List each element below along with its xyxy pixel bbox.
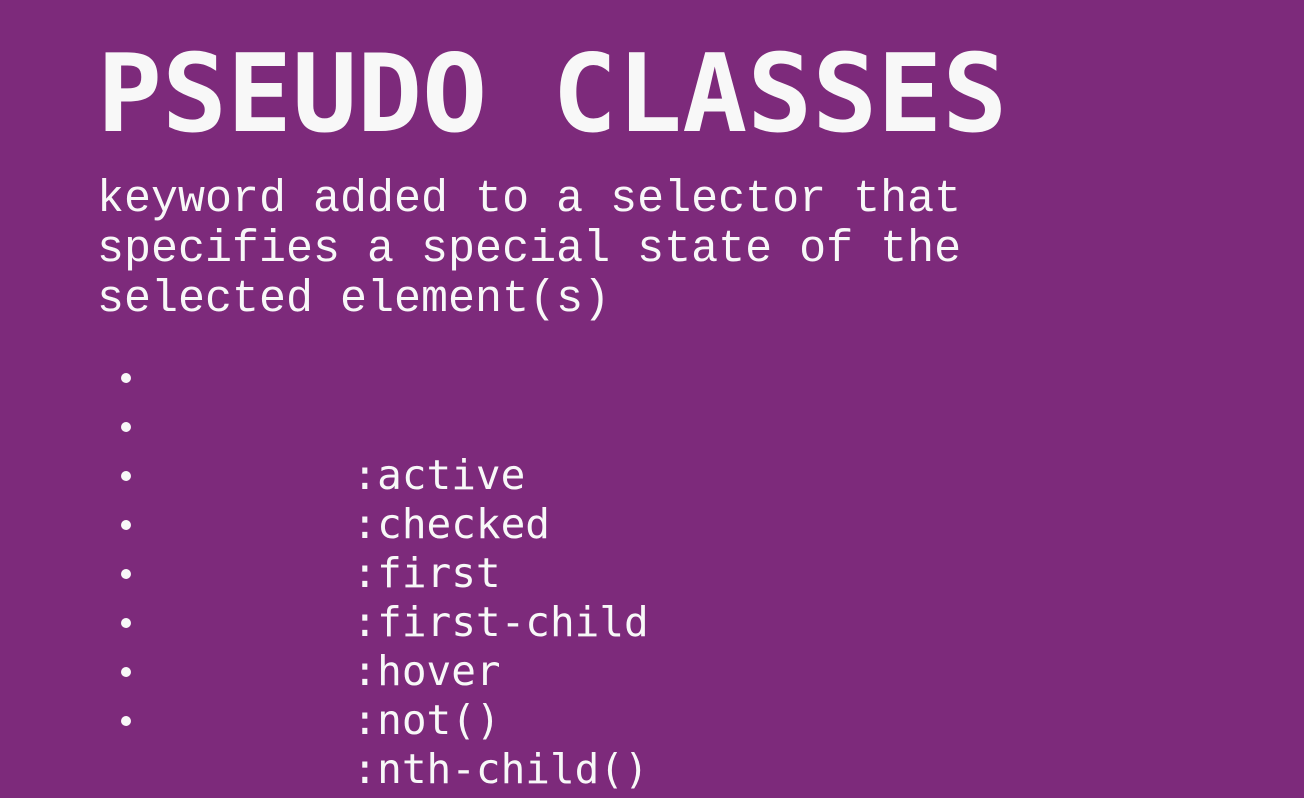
bullet-icon <box>121 520 131 530</box>
subtitle-line-2: specifies a special state of the <box>97 225 1057 275</box>
slide-subtitle: keyword added to a selector that specifi… <box>97 175 1057 325</box>
subtitle-line-1: keyword added to a selector that <box>97 175 1057 225</box>
list-item: :not() <box>97 598 698 647</box>
list-item: :hover <box>97 549 698 598</box>
list-item: :active <box>97 353 698 402</box>
list-item-label: :nth-of-type() <box>352 794 698 798</box>
bullet-icon <box>121 667 131 677</box>
bullet-icon <box>121 618 131 628</box>
slide-canvas: PSEUDO CLASSES keyword added to a select… <box>0 0 1304 798</box>
bullet-icon <box>121 422 131 432</box>
list-item-label: :nth-child() <box>352 745 648 794</box>
bullet-icon <box>121 471 131 481</box>
list-item: :checked <box>97 402 698 451</box>
pseudo-class-list: :active :checked :first :first-child :ho… <box>97 353 698 745</box>
list-item: :nth-child() <box>97 647 698 696</box>
page-title: PSEUDO CLASSES <box>97 37 1007 153</box>
bullet-icon <box>121 716 131 726</box>
slide-content-area: PSEUDO CLASSES keyword added to a select… <box>97 0 1304 798</box>
bullet-icon <box>121 373 131 383</box>
list-item: :first <box>97 451 698 500</box>
subtitle-line-3: selected element(s) <box>97 275 1057 325</box>
bullet-icon <box>121 569 131 579</box>
list-item: :first-child <box>97 500 698 549</box>
list-item: :nth-of-type() <box>97 696 698 745</box>
